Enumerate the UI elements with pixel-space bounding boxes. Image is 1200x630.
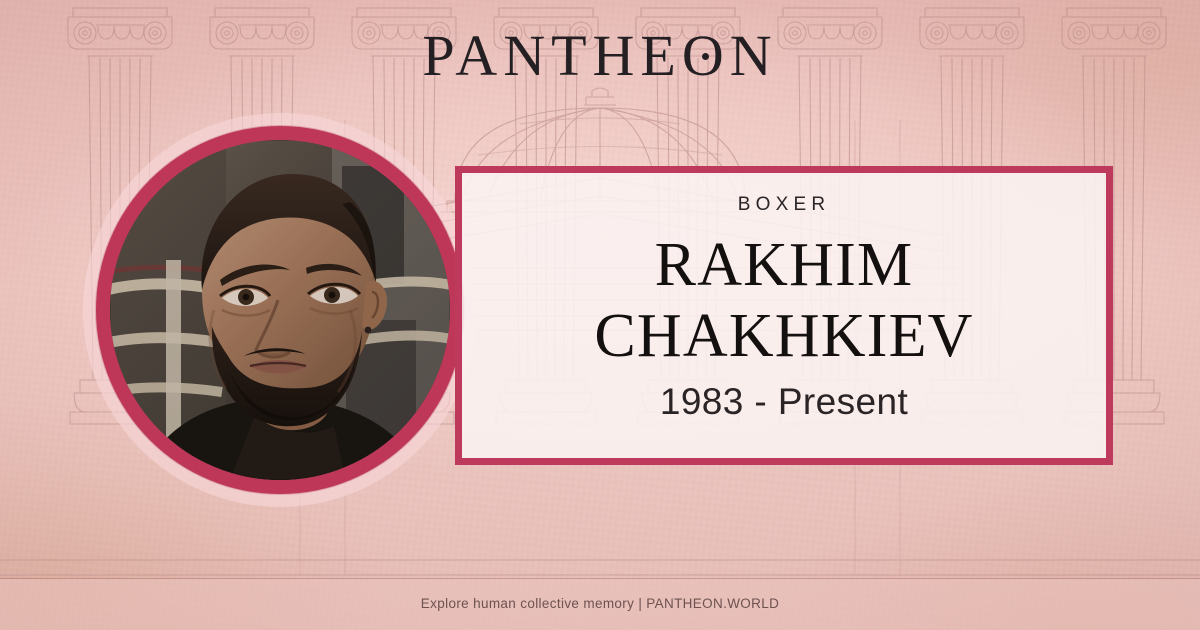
person-info-card: BOXER RAKHIM CHAKHKIEV 1983 - Present (455, 166, 1113, 465)
portrait-illustration (110, 140, 450, 480)
wordmark-text-before: PANTHE (422, 23, 681, 88)
person-name-line-2: CHAKHKIEV (594, 301, 973, 372)
life-dates: 1983 - Present (660, 381, 908, 423)
pantheon-social-card: PANTHEON (0, 0, 1200, 630)
pantheon-wordmark: PANTHEON (0, 27, 1200, 85)
person-name-line-1: RAKHIM (594, 230, 973, 301)
person-info-card-inner: BOXER RAKHIM CHAKHKIEV 1983 - Present (462, 173, 1106, 458)
wordmark-text-after: N (730, 23, 778, 88)
portrait-photo (110, 140, 450, 480)
wordmark-center-dot-icon (702, 53, 709, 60)
occupation-label: BOXER (738, 194, 831, 216)
wordmark-o-glyph: O (682, 27, 730, 85)
person-name: RAKHIM CHAKHKIEV (594, 230, 973, 372)
footer-tagline: Explore human collective memory | PANTHE… (0, 596, 1200, 611)
